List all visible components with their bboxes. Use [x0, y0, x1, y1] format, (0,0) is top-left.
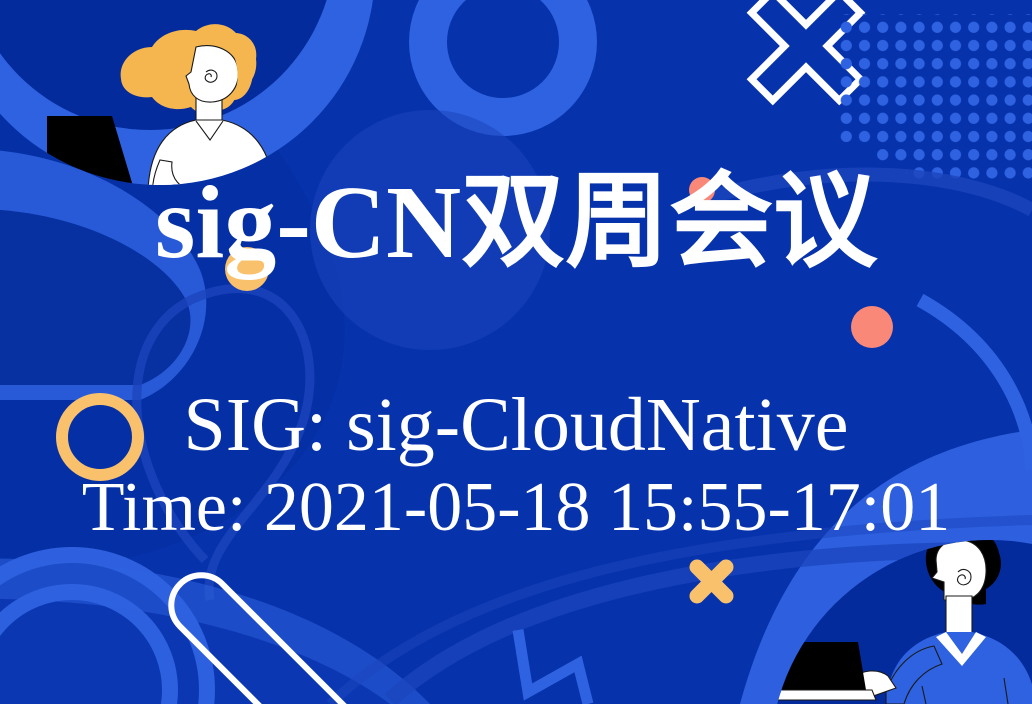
- coral-dot: [851, 306, 893, 348]
- coral-dot-small: [689, 177, 715, 203]
- laptop-base-person: [772, 690, 876, 700]
- person-neck: [946, 596, 972, 634]
- meeting-announcement-poster: sig-CN双周会议 SIG: sig-CloudNative Time: 20…: [0, 0, 1032, 704]
- mid-circle-accent: [310, 110, 550, 350]
- poster-background-graphics: [0, 0, 1032, 704]
- yellow-x-icon: [697, 567, 726, 596]
- yellow-dot-behind-g: [225, 247, 269, 291]
